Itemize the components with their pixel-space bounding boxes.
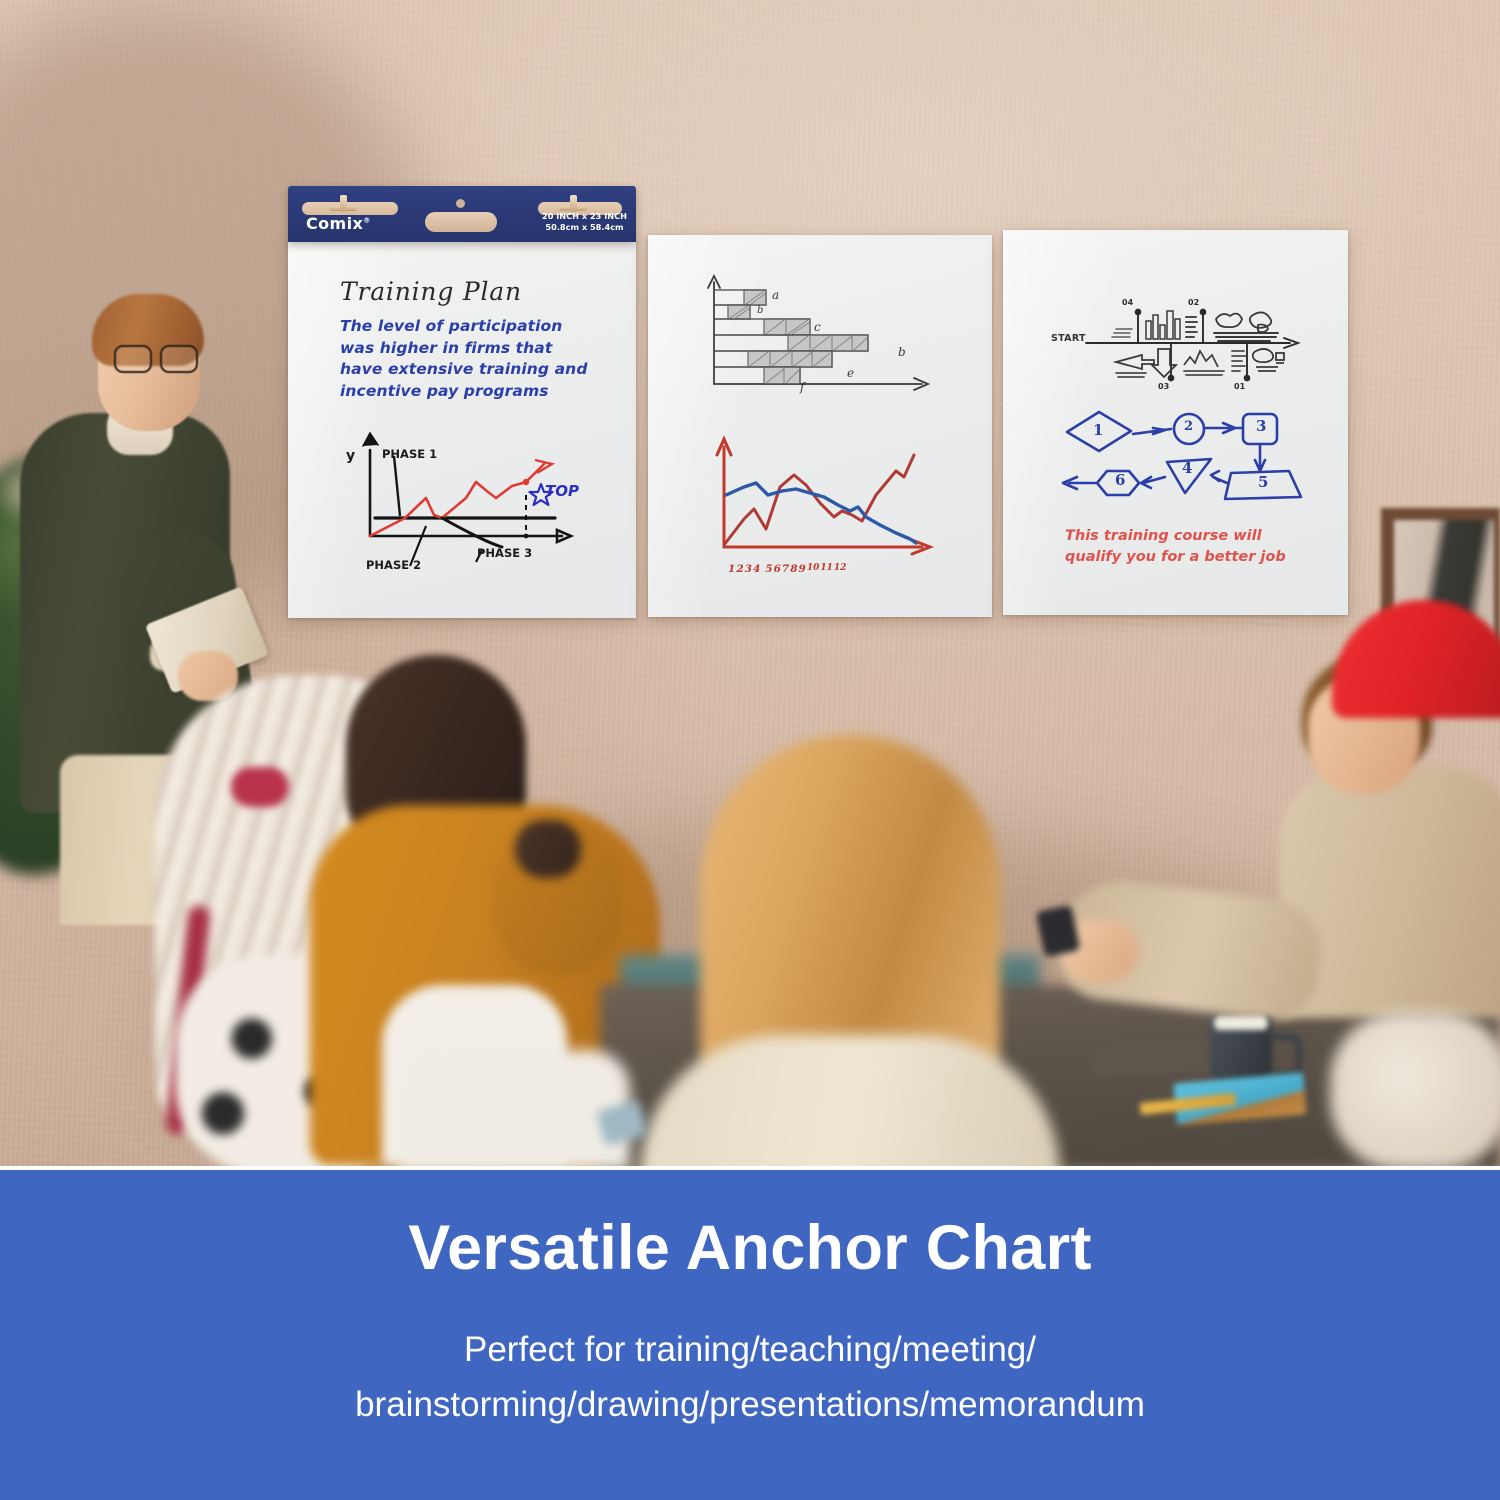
coffee-mug-handle <box>1266 1034 1302 1078</box>
handle-rivet <box>456 199 465 208</box>
flow-node-6: 6 <box>1115 471 1125 489</box>
banner-subtitle-line1: Perfect for training/teaching/meeting/ <box>0 1322 1500 1377</box>
panel2-tick-labels: 1 2 3 4 5 6 7 8 9 10 11 12 <box>728 563 908 575</box>
panel1-phase1-label: PHASE 1 <box>382 447 437 461</box>
panel3-point-02: 02 <box>1188 298 1199 307</box>
banner-subtitle-line2: brainstorming/drawing/presentations/memo… <box>0 1377 1500 1432</box>
tick-8: 8 <box>790 563 797 575</box>
panel3-caption-line2: qualify you for a better job <box>1065 547 1315 568</box>
tick-10: 10 <box>807 563 820 575</box>
panel3-caption: This training course will qualify you fo… <box>1065 526 1315 568</box>
red-series <box>724 455 914 545</box>
tick-1: 1 <box>728 563 735 575</box>
tick-2: 2 <box>736 563 743 575</box>
panel1-top-label: TOP <box>545 482 579 500</box>
product-marketing-image: Comix® 20 INCH x 23 INCH 50.8cm x 58.4cm… <box>0 0 1500 1500</box>
tick-11: 11 <box>820 563 833 575</box>
panel2-bar-label-c: c <box>814 320 821 334</box>
attendee-fur-coat-right <box>1330 1012 1500 1166</box>
panel2-bar-label-e: e <box>847 366 854 380</box>
flow-node-2: 2 <box>1184 419 1193 434</box>
blue-series <box>726 483 916 543</box>
panel1-phase2-label: PHASE 2 <box>366 558 421 572</box>
panel3-caption-line1: This training course will <box>1065 526 1315 547</box>
panel1-phase3-label: PHASE 3 <box>477 546 532 560</box>
presenter-glasses-icon <box>114 345 198 369</box>
panel3-start-label: START <box>1051 333 1086 344</box>
panel3-point-01: 01 <box>1234 382 1245 391</box>
coffee-mug <box>1210 1016 1272 1082</box>
photo-scene: Comix® 20 INCH x 23 INCH 50.8cm x 58.4cm… <box>0 0 1500 1166</box>
panel2-bar-label-f: f <box>800 380 804 394</box>
flow-node-4: 4 <box>1182 459 1192 477</box>
size-label-inches: 20 INCH x 23 INCH <box>542 211 627 222</box>
tick-5: 5 <box>765 563 772 575</box>
panel3-point-03: 03 <box>1158 382 1169 391</box>
panel2-bar-label-a: a <box>772 288 779 302</box>
flow-node-5: 5 <box>1258 473 1268 491</box>
panel2-line-chart <box>700 425 962 570</box>
chair-back-left <box>400 1050 630 1166</box>
flipchart-header: Comix® 20 INCH x 23 INCH 50.8cm x 58.4cm <box>288 186 636 242</box>
panel1-title: Training Plan <box>340 277 522 306</box>
tick-6: 6 <box>774 563 781 575</box>
glasses-lens-right <box>160 345 198 373</box>
panel1-y-axis-label: y <box>346 448 355 464</box>
attendee-orange-hand <box>515 820 581 878</box>
brand-logo-text: Comix <box>306 214 363 233</box>
panel1-phase-chart <box>330 420 620 600</box>
tick-7: 7 <box>782 563 789 575</box>
marketing-banner: Versatile Anchor Chart Perfect for train… <box>0 1170 1500 1500</box>
carry-handle[interactable] <box>425 212 497 232</box>
tick-4: 4 <box>753 563 760 575</box>
banner-title: Versatile Anchor Chart <box>0 1212 1500 1284</box>
clip-screw-left <box>340 195 347 212</box>
brand-logo: Comix® <box>306 214 371 233</box>
clip-screw-right <box>570 195 577 212</box>
panel1-body-text: The level of participation was higher in… <box>340 316 595 402</box>
braids-hair-tie <box>231 767 289 807</box>
size-label-cm: 50.8cm x 58.4cm <box>542 222 627 233</box>
panel2-bar-label-b1: b <box>757 305 763 316</box>
tick-9: 9 <box>799 563 806 575</box>
flow-node-3: 3 <box>1256 417 1266 435</box>
panel2-bar-chart <box>700 272 950 402</box>
panel3-point-04: 04 <box>1122 298 1133 307</box>
tick-12: 12 <box>834 563 847 575</box>
flow-node-1: 1 <box>1093 421 1103 439</box>
banner-subtitle: Perfect for training/teaching/meeting/ b… <box>0 1322 1500 1432</box>
attendee-blonde-hair <box>640 735 1060 1165</box>
size-label: 20 INCH x 23 INCH 50.8cm x 58.4cm <box>542 211 627 232</box>
tick-3: 3 <box>745 563 752 575</box>
glasses-lens-left <box>114 345 152 373</box>
brand-registered-mark: ® <box>363 217 370 225</box>
red-beanie-hat <box>1332 600 1500 718</box>
panel2-bar-label-b2: b <box>898 345 906 359</box>
